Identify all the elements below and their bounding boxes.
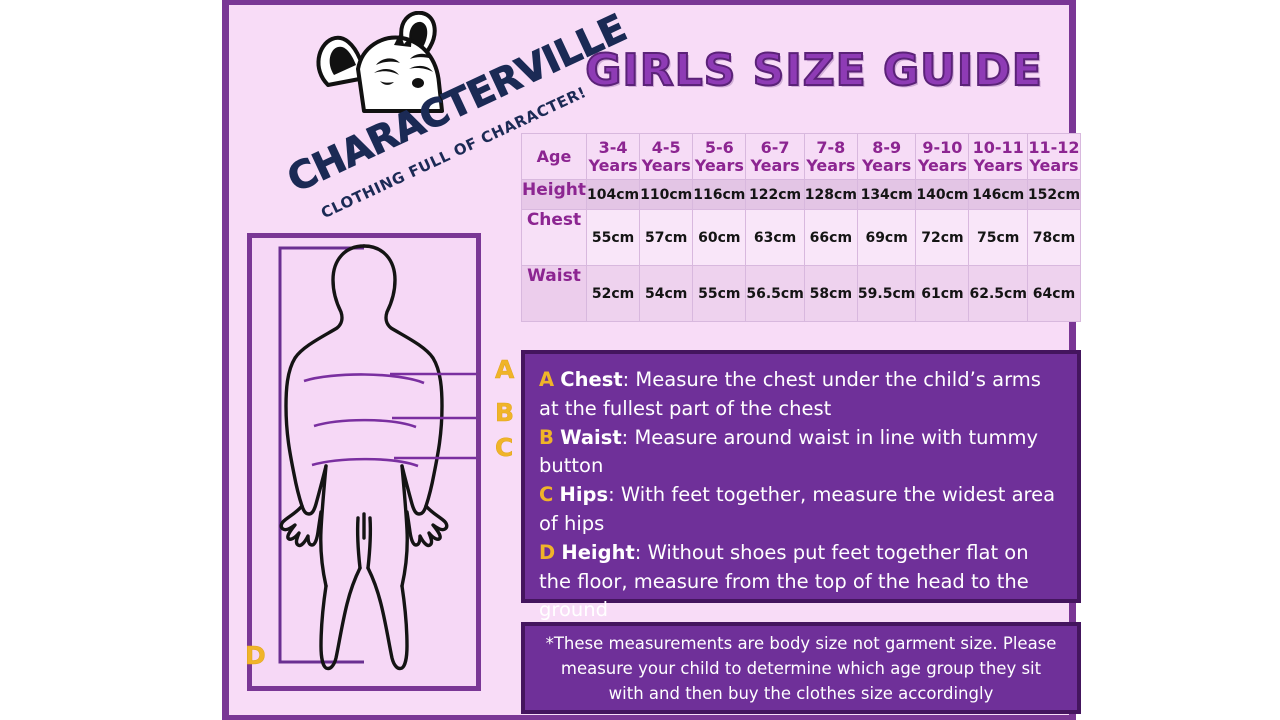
col-range: 11-12: [1028, 139, 1080, 157]
col-unit: Years: [858, 157, 915, 175]
instruction-key-b: B: [539, 426, 554, 449]
table-row-height: Height 104cm 110cm 116cm 122cm 128cm 134…: [522, 180, 1081, 210]
column-header-8-9: 8-9 Years: [857, 134, 915, 180]
column-header-4-5: 4-5 Years: [640, 134, 693, 180]
cell-height-4-5: 110cm: [640, 180, 693, 210]
cell-waist-9-10: 61cm: [916, 266, 969, 322]
column-header-10-11: 10-11 Years: [969, 134, 1027, 180]
instruction-line-a: A Chest: Measure the chest under the chi…: [539, 366, 1063, 424]
col-unit: Years: [640, 157, 692, 175]
col-range: 4-5: [640, 139, 692, 157]
marker-label-c: C: [495, 433, 513, 462]
col-range: 10-11: [969, 139, 1026, 157]
footnote-text: *These measurements are body size not ga…: [541, 631, 1061, 706]
cell-height-7-8: 128cm: [804, 180, 857, 210]
col-unit: Years: [969, 157, 1026, 175]
instruction-term-d: Height: [561, 541, 634, 564]
body-outline-svg: [252, 238, 476, 686]
column-header-6-7: 6-7 Years: [746, 134, 804, 180]
col-range: 7-8: [805, 139, 857, 157]
cell-height-11-12: 152cm: [1027, 180, 1080, 210]
cell-waist-3-4: 52cm: [586, 266, 639, 322]
column-header-3-4: 3-4 Years: [586, 134, 639, 180]
cell-waist-11-12: 64cm: [1027, 266, 1080, 322]
row-label-height: Height: [522, 180, 587, 210]
col-unit: Years: [693, 157, 745, 175]
instruction-line-c: C Hips: With feet together, measure the …: [539, 481, 1063, 539]
cell-chest-9-10: 72cm: [916, 210, 969, 266]
pointer-lines: [390, 374, 476, 458]
instruction-term-b: Waist: [560, 426, 622, 449]
marker-label-d: D: [245, 641, 266, 670]
guide-panel: CHARACTERVILLE CLOTHING FULL OF CHARACTE…: [222, 0, 1076, 720]
cell-waist-6-7: 56.5cm: [746, 266, 804, 322]
instruction-term-c: Hips: [560, 483, 609, 506]
column-header-5-6: 5-6 Years: [693, 134, 746, 180]
body-diagram: [247, 233, 481, 691]
cell-height-10-11: 146cm: [969, 180, 1027, 210]
col-unit: Years: [746, 157, 803, 175]
cell-chest-4-5: 57cm: [640, 210, 693, 266]
marker-label-b: B: [495, 398, 514, 427]
cell-height-5-6: 116cm: [693, 180, 746, 210]
footnote-box: *These measurements are body size not ga…: [521, 622, 1081, 714]
brand-logo: CHARACTERVILLE CLOTHING FULL OF CHARACTE…: [284, 9, 554, 229]
cell-height-3-4: 104cm: [586, 180, 639, 210]
cell-chest-6-7: 63cm: [746, 210, 804, 266]
cell-chest-11-12: 78cm: [1027, 210, 1080, 266]
col-unit: Years: [916, 157, 968, 175]
col-unit: Years: [1028, 157, 1080, 175]
row-label-waist: Waist: [522, 266, 587, 322]
table-corner-label: Age: [522, 134, 587, 180]
column-header-11-12: 11-12 Years: [1027, 134, 1080, 180]
instruction-term-a: Chest: [560, 368, 622, 391]
col-unit: Years: [587, 157, 639, 175]
size-chart-table: Age 3-4 Years 4-5 Years 5-6 Years 6-7: [521, 133, 1081, 322]
marker-label-a: A: [495, 355, 514, 384]
instruction-text-c: : With feet together, measure the widest…: [539, 483, 1055, 535]
column-header-7-8: 7-8 Years: [804, 134, 857, 180]
table-row-chest: Chest 55cm 57cm 60cm 63cm 66cm 69cm 72cm…: [522, 210, 1081, 266]
cell-height-8-9: 134cm: [857, 180, 915, 210]
cell-chest-5-6: 60cm: [693, 210, 746, 266]
cell-waist-7-8: 58cm: [804, 266, 857, 322]
instruction-key-c: C: [539, 483, 553, 506]
col-range: 8-9: [858, 139, 915, 157]
col-range: 5-6: [693, 139, 745, 157]
instruction-key-d: D: [539, 541, 555, 564]
page-title: GIRLS SIZE GUIDE: [559, 45, 1069, 96]
cell-waist-8-9: 59.5cm: [857, 266, 915, 322]
waist-curve: [314, 420, 416, 427]
cell-waist-5-6: 55cm: [693, 266, 746, 322]
col-unit: Years: [805, 157, 857, 175]
table-header-row: Age 3-4 Years 4-5 Years 5-6 Years 6-7: [522, 134, 1081, 180]
cell-height-9-10: 140cm: [916, 180, 969, 210]
measure-lines: [304, 374, 424, 466]
cell-chest-3-4: 55cm: [586, 210, 639, 266]
measuring-instructions: A Chest: Measure the chest under the chi…: [521, 350, 1081, 603]
col-range: 6-7: [746, 139, 803, 157]
row-label-chest: Chest: [522, 210, 587, 266]
cell-waist-4-5: 54cm: [640, 266, 693, 322]
instruction-key-a: A: [539, 368, 554, 391]
cell-chest-10-11: 75cm: [969, 210, 1027, 266]
table-row-waist: Waist 52cm 54cm 55cm 56.5cm 58cm 59.5cm …: [522, 266, 1081, 322]
cell-chest-8-9: 69cm: [857, 210, 915, 266]
cell-waist-10-11: 62.5cm: [969, 266, 1027, 322]
height-bracket: [280, 248, 364, 662]
cell-chest-7-8: 66cm: [804, 210, 857, 266]
size-guide-page: CHARACTERVILLE CLOTHING FULL OF CHARACTE…: [0, 0, 1280, 720]
instruction-line-d: D Height: Without shoes put feet togethe…: [539, 539, 1063, 625]
col-range: 9-10: [916, 139, 968, 157]
column-header-9-10: 9-10 Years: [916, 134, 969, 180]
col-range: 3-4: [587, 139, 639, 157]
cell-height-6-7: 122cm: [746, 180, 804, 210]
chest-curve: [304, 374, 424, 383]
instruction-line-b: B Waist: Measure around waist in line wi…: [539, 424, 1063, 482]
